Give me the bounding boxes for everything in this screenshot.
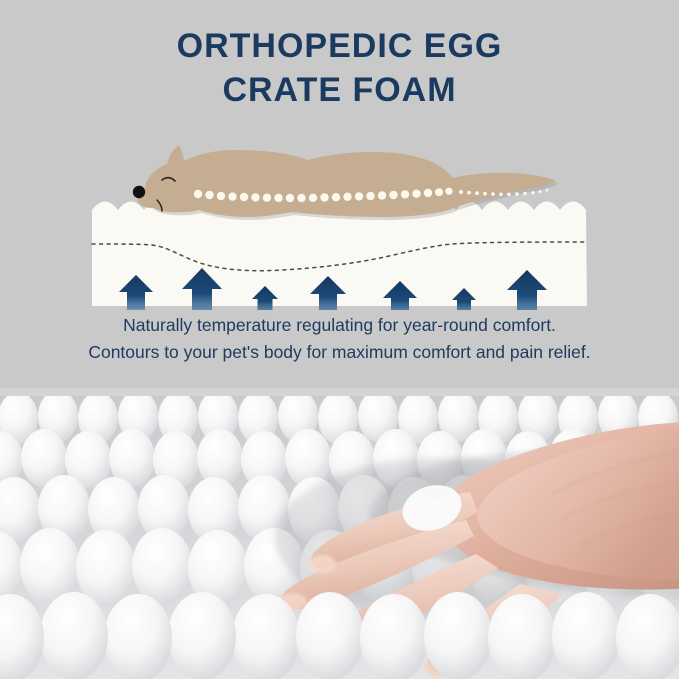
page-title-line-2: CRATE FOAM	[0, 68, 679, 112]
foam-bump-front-4	[40, 592, 108, 679]
foam-bump-front-6	[296, 592, 364, 679]
foam-bump-front-1	[232, 594, 300, 679]
foam-support-illustration	[0, 118, 679, 310]
dog-ear	[168, 145, 182, 164]
page-title: ORTHOPEDIC EGG CRATE FOAM	[0, 24, 679, 112]
foam-bump-front-10	[552, 592, 620, 679]
page-title-line-1: ORTHOPEDIC EGG	[0, 24, 679, 68]
feature-captions: Naturally temperature regulating for yea…	[0, 312, 679, 366]
photo-top-band	[0, 388, 679, 396]
foam-bump-front-9	[488, 594, 556, 679]
foam-bump-front-3	[104, 594, 172, 679]
foam-bump-front-7	[360, 594, 428, 679]
feature-caption-2: Contours to your pet's body for maximum …	[0, 339, 679, 366]
feature-caption-1: Naturally temperature regulating for yea…	[0, 312, 679, 339]
dog-nose	[133, 186, 145, 198]
foam-bump-front-8	[424, 592, 492, 679]
top-info-panel: ORTHOPEDIC EGG CRATE FOAM	[0, 0, 679, 388]
foam-bump-front-2	[168, 592, 236, 679]
egg-crate-foam-photo	[0, 388, 679, 679]
dog-body	[145, 146, 459, 217]
